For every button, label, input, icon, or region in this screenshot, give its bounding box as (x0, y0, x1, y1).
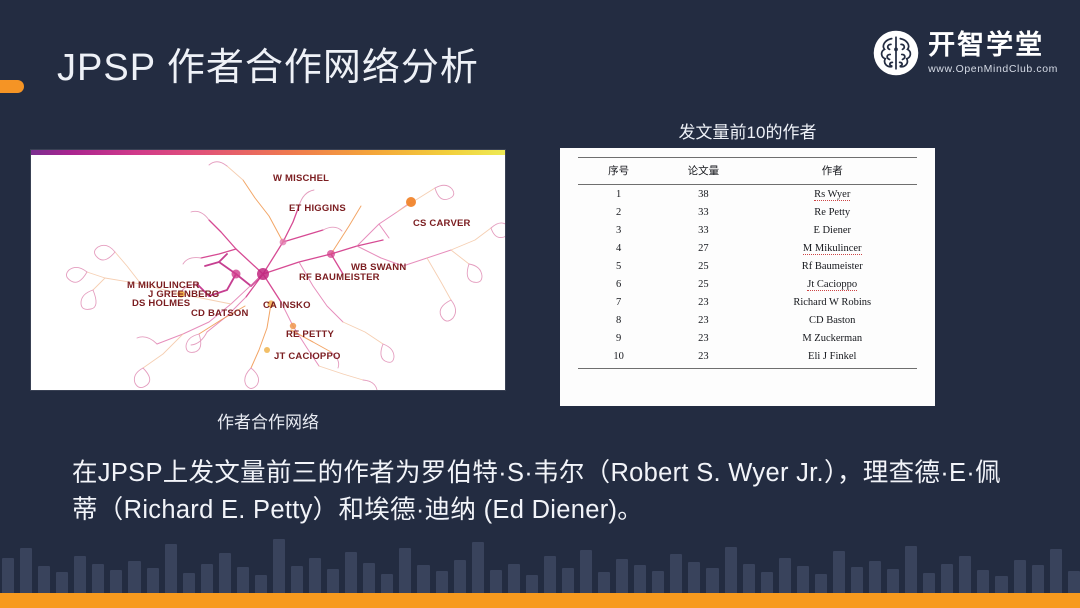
footer-bar (38, 566, 50, 594)
footer-bar (616, 559, 628, 594)
network-node-label: CD BATSON (191, 308, 249, 319)
column-header-index: 序号 (578, 158, 659, 185)
footer-bar (327, 569, 339, 594)
network-node-label: W MISCHEL (273, 173, 329, 184)
network-graph (31, 154, 505, 390)
cell-paper-count: 33 (659, 203, 747, 221)
cell-author: Eli J Finkel (747, 347, 917, 369)
footer-strip (0, 593, 1080, 608)
footer-bar (544, 556, 556, 594)
footer-bar (291, 566, 303, 594)
footer-bar (454, 560, 466, 594)
cell-author: E Diener (747, 221, 917, 239)
table-row: 333E Diener (578, 221, 917, 239)
table-row: 525Rf Baumeister (578, 257, 917, 275)
table-row: 923M Zuckerman (578, 329, 917, 347)
network-node-label: JT CACIOPPO (274, 351, 341, 362)
footer-bar (345, 552, 357, 594)
table-row: 823CD Baston (578, 311, 917, 329)
footer-bar (110, 570, 122, 594)
cell-index: 6 (578, 275, 659, 293)
brain-icon (873, 30, 919, 76)
footer-bar (417, 565, 429, 594)
footer-bar (995, 576, 1007, 594)
footer-bar (779, 558, 791, 594)
cell-paper-count: 25 (659, 257, 747, 275)
cell-author: Richard W Robins (747, 293, 917, 311)
table-row: 427M Mikulincer (578, 239, 917, 257)
footer-bar (183, 573, 195, 594)
network-figure-caption: 作者合作网络 (31, 408, 505, 433)
footer-bar (219, 553, 231, 594)
title-accent-bar (0, 80, 24, 93)
column-header-author: 作者 (747, 158, 917, 185)
cell-author: Rf Baumeister (747, 257, 917, 275)
cell-index: 5 (578, 257, 659, 275)
cell-author: M Zuckerman (747, 329, 917, 347)
cell-author: Rs Wyer (747, 185, 917, 204)
footer-bar (201, 564, 213, 594)
network-node-label: DS HOLMES (132, 298, 190, 309)
footer-bar (20, 548, 32, 594)
footer-bar (670, 554, 682, 594)
cell-author: CD Baston (747, 311, 917, 329)
footer-bar (580, 550, 592, 594)
table-row: 233Re Petty (578, 203, 917, 221)
footer-bar (363, 563, 375, 594)
footer-bar (1032, 565, 1044, 594)
network-node-label: RF BAUMEISTER (299, 272, 380, 283)
column-header-count: 论文量 (659, 158, 747, 185)
footer-bar (598, 572, 610, 594)
cell-author: M Mikulincer (747, 239, 917, 257)
footer-bar (1050, 549, 1062, 594)
footer-bar (309, 558, 321, 594)
footer-bar (165, 544, 177, 594)
footer-bar (2, 558, 14, 594)
footer-bar (725, 547, 737, 594)
cell-author: Re Petty (747, 203, 917, 221)
table-header-row: 序号 论文量 作者 (578, 158, 917, 185)
footer-bar (399, 548, 411, 594)
footer-bar (74, 556, 86, 594)
author-network-figure: W MISCHELET HIGGINSCS CARVERWB SWANNRF B… (31, 150, 505, 390)
cell-index: 1 (578, 185, 659, 204)
slide-root: JPSP 作者合作网络分析 开智学堂 (0, 0, 1080, 608)
cell-paper-count: 23 (659, 311, 747, 329)
footer-bar (526, 575, 538, 594)
table-row: 723Richard W Robins (578, 293, 917, 311)
footer-bar-decoration (0, 532, 1080, 594)
footer-bar (923, 573, 935, 594)
footer-bar (851, 567, 863, 594)
footer-bar (128, 561, 140, 594)
cell-paper-count: 33 (659, 221, 747, 239)
footer-bar (688, 562, 700, 594)
footer-bar (56, 572, 68, 594)
footer-bar (634, 565, 646, 594)
footer-bar (237, 567, 249, 594)
table-body: 138Rs Wyer233Re Petty333E Diener427M Mik… (578, 185, 917, 369)
table-row: 625Jt Cacioppo (578, 275, 917, 293)
footer-bar (436, 571, 448, 594)
footer-bar (959, 556, 971, 594)
cell-paper-count: 27 (659, 239, 747, 257)
network-node-label: RE PETTY (286, 329, 334, 340)
cell-index: 10 (578, 347, 659, 369)
table-row: 1023Eli J Finkel (578, 347, 917, 369)
cell-paper-count: 23 (659, 293, 747, 311)
footer-bar (977, 570, 989, 594)
cell-index: 2 (578, 203, 659, 221)
footer-bar (562, 568, 574, 594)
cell-paper-count: 38 (659, 185, 747, 204)
footer-bar (381, 574, 393, 594)
cell-paper-count: 25 (659, 275, 747, 293)
logo-name: 开智学堂 (928, 32, 1044, 59)
top-authors-table: 序号 论文量 作者 138Rs Wyer233Re Petty333E Dien… (578, 157, 917, 369)
page-title: JPSP 作者合作网络分析 (57, 36, 479, 91)
footer-bar (147, 568, 159, 594)
footer-bar (255, 575, 267, 594)
footer-bar (1014, 560, 1026, 594)
footer-bar (273, 539, 285, 594)
cell-index: 7 (578, 293, 659, 311)
cell-index: 3 (578, 221, 659, 239)
cell-paper-count: 23 (659, 329, 747, 347)
cell-author: Jt Cacioppo (747, 275, 917, 293)
footer-bar (797, 566, 809, 594)
table-title: 发文量前10的作者 (560, 118, 935, 143)
cell-paper-count: 23 (659, 347, 747, 369)
footer-bar (941, 564, 953, 594)
cell-index: 9 (578, 329, 659, 347)
body-paragraph: 在JPSP上发文量前三的作者为罗伯特·S·韦尔（Robert S. Wyer J… (72, 455, 1012, 529)
cell-index: 4 (578, 239, 659, 257)
footer-bar (905, 546, 917, 594)
footer-bar (743, 564, 755, 594)
top-authors-table-card: 序号 论文量 作者 138Rs Wyer233Re Petty333E Dien… (560, 148, 935, 406)
footer-bar (887, 569, 899, 594)
footer-bar (869, 561, 881, 594)
footer-bar (508, 564, 520, 594)
footer-bar (652, 571, 664, 594)
logo-url: www.OpenMindClub.com (928, 64, 1058, 75)
footer-bar (490, 570, 502, 594)
footer-bar (761, 572, 773, 594)
network-node-label: CA INSKO (263, 300, 311, 311)
table-row: 138Rs Wyer (578, 185, 917, 204)
footer-bar (472, 542, 484, 594)
footer-bar (92, 564, 104, 594)
footer-bar (815, 574, 827, 594)
brand-logo: 开智学堂 www.OpenMindClub.com (873, 30, 1058, 76)
network-node-label: CS CARVER (413, 218, 471, 229)
footer-bar (1068, 571, 1080, 594)
footer-bar (706, 568, 718, 594)
cell-index: 8 (578, 311, 659, 329)
network-node-label: ET HIGGINS (289, 203, 346, 214)
footer-bar (833, 551, 845, 594)
